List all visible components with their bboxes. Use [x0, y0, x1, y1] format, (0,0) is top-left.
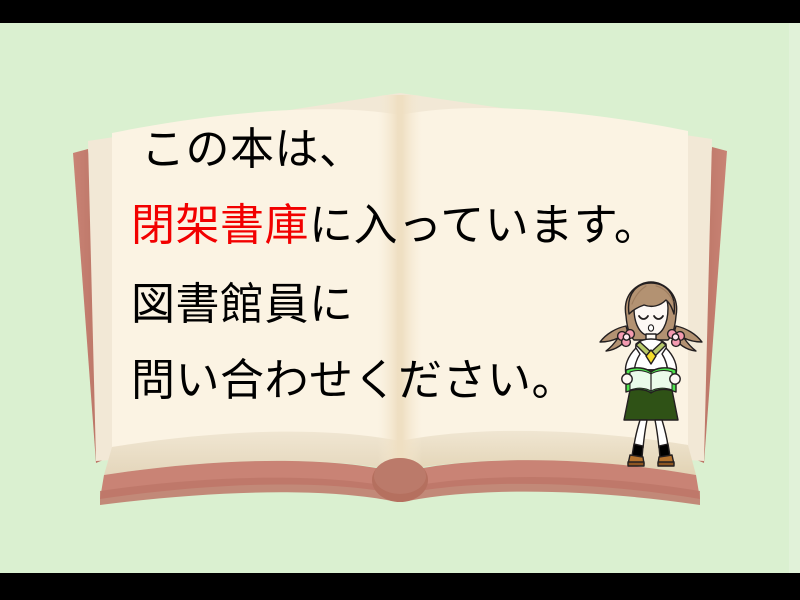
held-book [626, 368, 676, 393]
mouth [648, 325, 653, 331]
book-spine-knob [372, 458, 428, 502]
letterbox-bar-bottom [0, 573, 800, 600]
letterbox-bar-top [0, 0, 800, 23]
book-page-left [112, 109, 400, 447]
hand-right [670, 374, 680, 384]
slide-canvas: この本は、 閉架書庫に入っています。 図書館員に 問い合わせください。 [0, 0, 800, 600]
shoe-left-sole [628, 462, 644, 466]
girl-reading-illustration [596, 278, 706, 468]
shoe-right-sole [658, 462, 674, 466]
hand-left [622, 374, 632, 384]
